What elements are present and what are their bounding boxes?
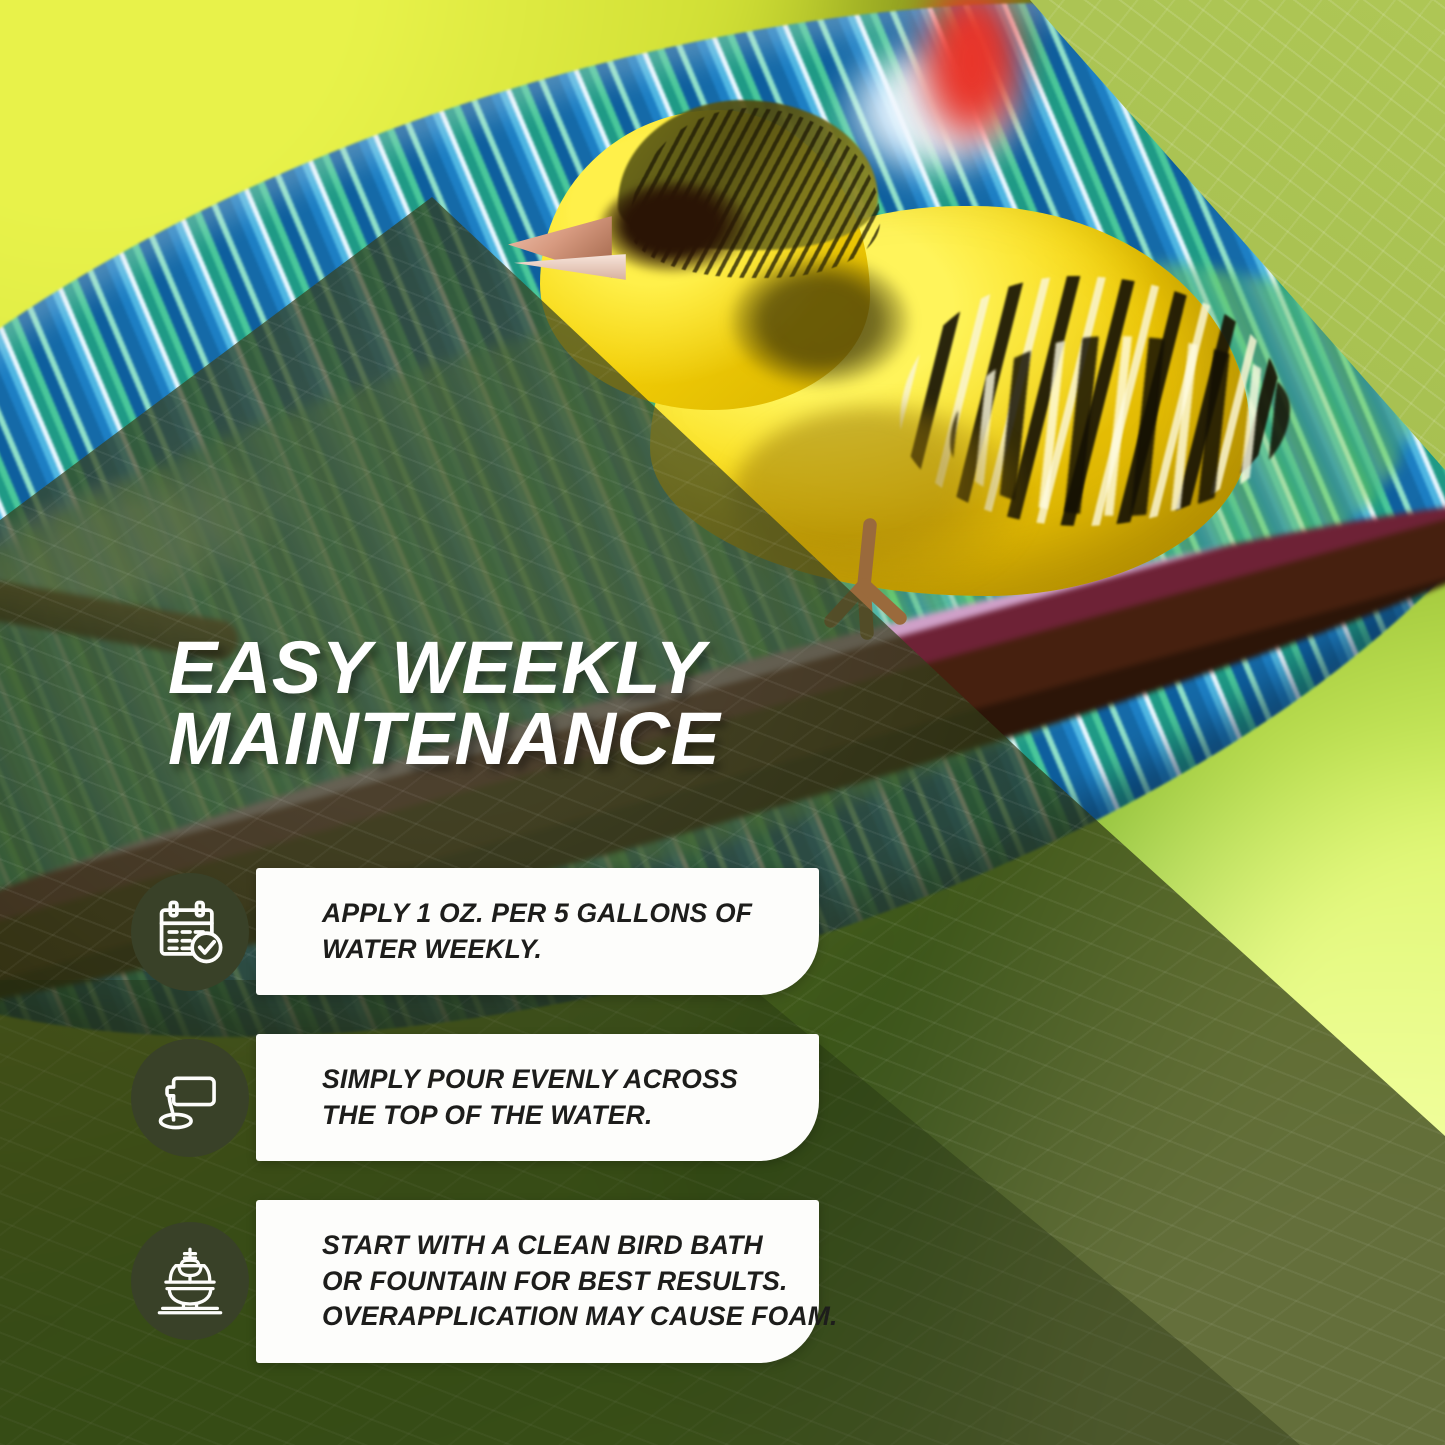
feature-text: APPLY 1 OZ. PER 5 GALLONS OF WATER WEEKL…: [322, 896, 789, 967]
feature-text-line: OVERAPPLICATION MAY CAUSE FOAM.: [322, 1299, 789, 1335]
feature-text-line: APPLY 1 OZ. PER 5 GALLONS OF: [322, 896, 789, 932]
fountain-icon: [131, 1222, 249, 1340]
headline-line-1: EASY WEEKLY: [168, 632, 848, 703]
feature-card: APPLY 1 OZ. PER 5 GALLONS OF WATER WEEKL…: [256, 868, 819, 995]
feature-card: SIMPLY POUR EVENLY ACROSS THE TOP OF THE…: [256, 1034, 819, 1161]
calendar-check-icon: [131, 873, 249, 991]
promo-graphic: EASY WEEKLY MAINTENANCE APPLY 1 OZ. PER …: [0, 0, 1445, 1445]
page-title: EASY WEEKLY MAINTENANCE: [168, 632, 848, 774]
feature-text: SIMPLY POUR EVENLY ACROSS THE TOP OF THE…: [322, 1062, 789, 1133]
feature-card: START WITH A CLEAN BIRD BATH OR FOUNTAIN…: [256, 1200, 819, 1363]
bird-cheek-shading: [730, 256, 910, 386]
feature-list: APPLY 1 OZ. PER 5 GALLONS OF WATER WEEKL…: [0, 868, 1445, 1402]
feature-text-line: WATER WEEKLY.: [322, 932, 789, 968]
list-item: START WITH A CLEAN BIRD BATH OR FOUNTAIN…: [0, 1200, 1445, 1363]
pouring-bottle-icon: [131, 1039, 249, 1157]
list-item: APPLY 1 OZ. PER 5 GALLONS OF WATER WEEKL…: [0, 868, 1445, 995]
list-item: SIMPLY POUR EVENLY ACROSS THE TOP OF THE…: [0, 1034, 1445, 1161]
feature-text-line: SIMPLY POUR EVENLY ACROSS: [322, 1062, 789, 1098]
feature-text-line: START WITH A CLEAN BIRD BATH: [322, 1228, 789, 1264]
feature-text-line: OR FOUNTAIN FOR BEST RESULTS.: [322, 1264, 789, 1300]
feature-text: START WITH A CLEAN BIRD BATH OR FOUNTAIN…: [322, 1228, 789, 1335]
feature-text-line: THE TOP OF THE WATER.: [322, 1098, 789, 1134]
headline-line-2: MAINTENANCE: [168, 703, 848, 774]
